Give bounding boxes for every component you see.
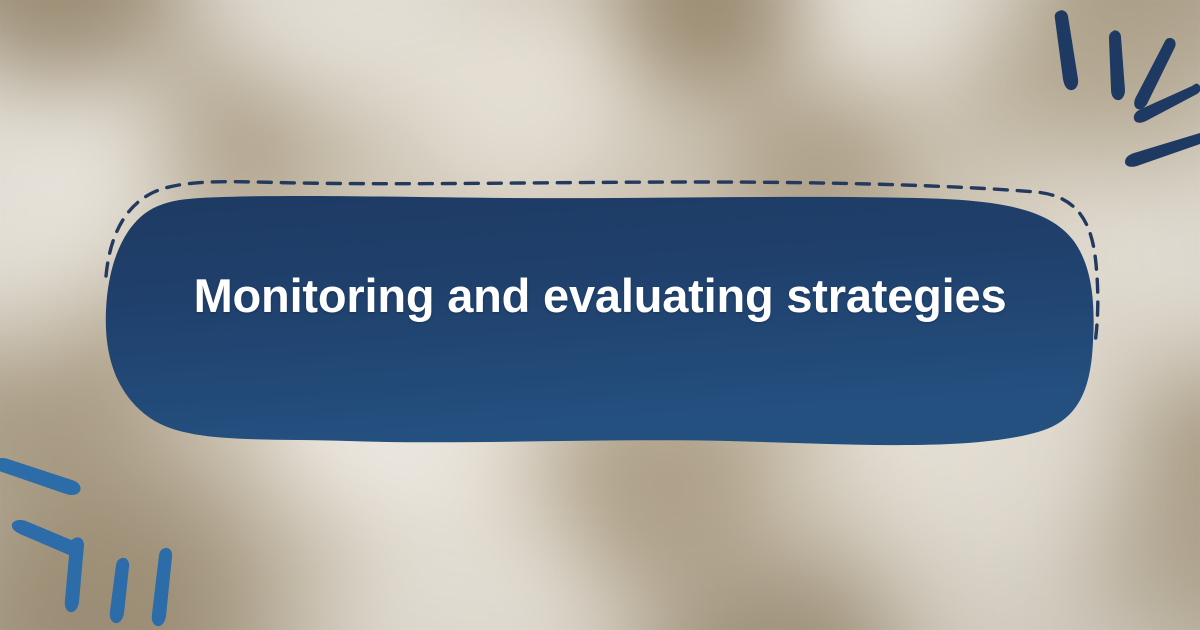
card-title: Monitoring and evaluating strategies bbox=[88, 268, 1112, 325]
banner-canvas: Monitoring and evaluating strategies bbox=[0, 0, 1200, 630]
starburst-top-right-icon bbox=[1020, 0, 1200, 170]
title-card: Monitoring and evaluating strategies bbox=[88, 160, 1112, 460]
starburst-bottom-left-icon bbox=[0, 450, 190, 630]
